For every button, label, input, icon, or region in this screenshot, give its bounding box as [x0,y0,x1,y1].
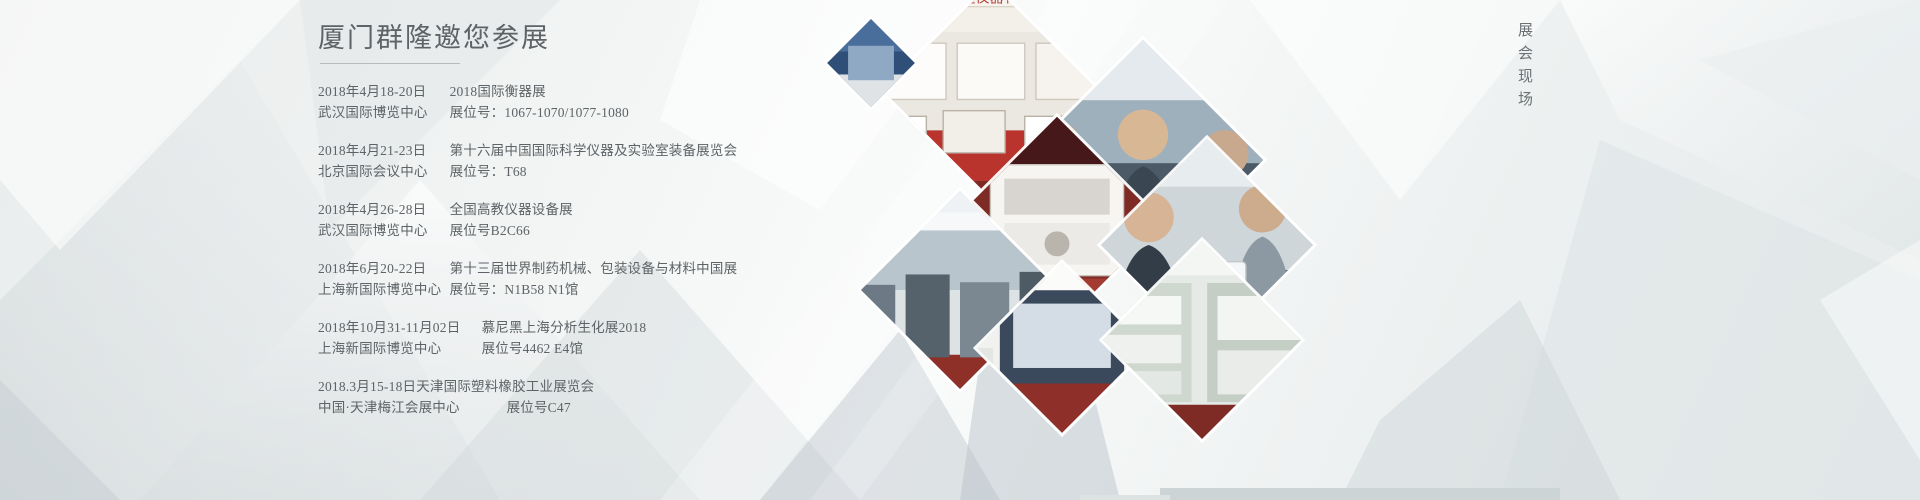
exhibition-booth: 展位号4462 E4馆 [482,338,584,359]
exhibition-line-venue: 上海新国际博览中心 展位号4462 E4馆 [318,338,958,359]
title-divider [320,63,460,64]
exhibition-line-date: 2018年6月20-22日 第十三届世界制药机械、包装设备与材料中国展 [318,258,958,279]
bottom-accent-strip [1160,488,1560,500]
exhibition-date: 2018.3月15-18日天津国际塑料橡胶工业展览会 [318,376,594,397]
exhibition-venue: 中国·天津梅江会展中心 [318,397,503,418]
exhibition-line-venue: 武汉国际博览中心 展位号：1067-1070/1077-1080 [318,102,958,123]
exhibition-venue: 武汉国际博览中心 [318,220,446,241]
exhibition-venue: 上海新国际博览中心 [318,279,446,300]
exhibition-booth: 展位号：1067-1070/1077-1080 [450,102,629,123]
exhibition-line-date: 2018年4月26-28日 全国高教仪器设备展 [318,199,958,220]
exhibition-date: 2018年4月18-20日 [318,81,446,102]
exhibition-line-date: 2018年10月31-11月02日 慕尼黑上海分析生化展2018 [318,317,958,338]
exhibition-name: 全国高教仪器设备展 [450,199,573,220]
exhibition-booth: 展位号：T68 [450,161,527,182]
exhibition-line-venue: 武汉国际博览中心 展位号B2C66 [318,220,958,241]
exhibition-venue: 上海新国际博览中心 [318,338,478,359]
exhibition-booth: 展位号C47 [507,397,571,418]
exhibition-line-venue: 北京国际会议中心 展位号：T68 [318,161,958,182]
exhibition-booth: 展位号B2C66 [450,220,530,241]
exhibition-date: 2018年10月31-11月02日 [318,317,478,338]
exhibition-date: 2018年4月21-23日 [318,140,446,161]
exhibition-entry: 2018年10月31-11月02日 慕尼黑上海分析生化展2018 上海新国际博览… [318,317,958,359]
exhibition-entry: 2018.3月15-18日天津国际塑料橡胶工业展览会 中国·天津梅江会展中心 展… [318,376,958,418]
exhibition-line-date: 2018.3月15-18日天津国际塑料橡胶工业展览会 [318,376,958,397]
photo-collage: 密度计&水分仪中国总 厦门群隆仪器有限公司 [1020,0,1580,500]
exhibition-date: 2018年4月26-28日 [318,199,446,220]
exhibition-line-venue: 中国·天津梅江会展中心 展位号C47 [318,397,958,418]
exhibition-name: 第十六届中国国际科学仪器及实验室装备展览会 [450,140,738,161]
exhibition-entry: 2018年4月26-28日 全国高教仪器设备展 武汉国际博览中心 展位号B2C6… [318,199,958,241]
exhibition-entry: 2018年4月21-23日 第十六届中国国际科学仪器及实验室装备展览会 北京国际… [318,140,958,182]
exhibition-venue: 武汉国际博览中心 [318,102,446,123]
exhibition-name: 慕尼黑上海分析生化展2018 [482,317,647,338]
exhibition-venue: 北京国际会议中心 [318,161,446,182]
bottom-accent-strip-secondary [1080,495,1170,500]
exhibition-line-date: 2018年4月21-23日 第十六届中国国际科学仪器及实验室装备展览会 [318,140,958,161]
exhibition-date: 2018年6月20-22日 [318,258,446,279]
exhibition-name: 第十三届世界制药机械、包装设备与材料中国展 [450,258,738,279]
exhibition-invitation-banner: 厦门群隆邀您参展 2018年4月18-20日 2018国际衡器展 武汉国际博览中… [0,0,1920,500]
exhibition-name: 2018国际衡器展 [450,81,546,102]
exhibition-booth: 展位号：N1B58 N1馆 [450,279,579,300]
exhibition-entry: 2018年6月20-22日 第十三届世界制药机械、包装设备与材料中国展 上海新国… [318,258,958,300]
